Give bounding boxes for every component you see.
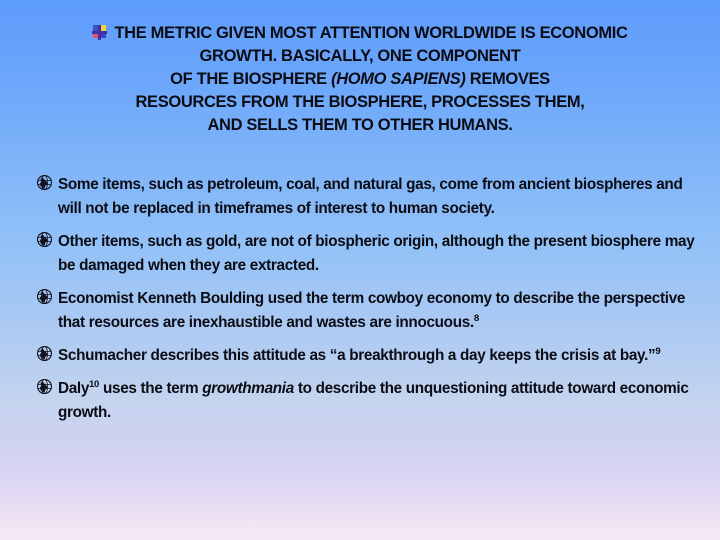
text-run: uses the term <box>99 380 202 397</box>
title-line-2: GROWTH. BASICALLY, ONE COMPONENT <box>0 45 720 68</box>
title-line-1-text: THE METRIC GIVEN MOST ATTENTION WORLDWID… <box>114 24 627 42</box>
title-line-3-italic: (HOMO SAPIENS) <box>331 70 465 88</box>
title-line-4: RESOURCES FROM THE BIOSPHERE, PROCESSES … <box>0 91 720 114</box>
globe-icon <box>36 288 53 310</box>
title-line-5-text: AND SELLS THEM TO OTHER HUMANS. <box>207 116 512 134</box>
bullet-text: Schumacher describes this attitude as “a… <box>58 344 700 368</box>
text-run: Daly <box>58 380 89 397</box>
bullet-text: Economist Kenneth Boulding used the term… <box>58 287 700 335</box>
bullet-item: Some items, such as petroleum, coal, and… <box>36 173 700 221</box>
title-line-2-text: GROWTH. BASICALLY, ONE COMPONENT <box>200 47 521 65</box>
title-line-4-text: RESOURCES FROM THE BIOSPHERE, PROCESSES … <box>135 93 584 111</box>
title-line-3: OF THE BIOSPHERE (HOMO SAPIENS) REMOVES <box>0 68 720 91</box>
text-run: Some items, such as petroleum, coal, and… <box>58 176 682 217</box>
slide-title: THE METRIC GIVEN MOST ATTENTION WORLDWID… <box>0 22 720 137</box>
text-run: Economist Kenneth Boulding used the term… <box>58 290 685 331</box>
globe-icon <box>36 378 53 400</box>
globe-icon <box>36 174 53 196</box>
slide-canvas: THE METRIC GIVEN MOST ATTENTION WORLDWID… <box>0 0 720 540</box>
globe-icon <box>36 345 53 367</box>
bullet-text: Daly10 uses the term growthmania to desc… <box>58 377 700 425</box>
footnote-reference: 8 <box>474 313 479 324</box>
title-line-3-pre: OF THE BIOSPHERE <box>170 70 331 88</box>
bullet-item: Daly10 uses the term growthmania to desc… <box>36 377 700 425</box>
title-line-1: THE METRIC GIVEN MOST ATTENTION WORLDWID… <box>0 22 720 45</box>
footnote-reference: 10 <box>89 379 99 390</box>
emphasized-term: growthmania <box>202 380 294 397</box>
bullet-item: Other items, such as gold, are not of bi… <box>36 230 700 278</box>
globe-icon <box>36 231 53 253</box>
text-run: Other items, such as gold, are not of bi… <box>58 233 694 274</box>
footnote-reference: 9 <box>655 346 660 357</box>
text-run: Schumacher describes this attitude as “a… <box>58 347 655 364</box>
bullet-text: Some items, such as petroleum, coal, and… <box>58 173 700 221</box>
four-pane-color-bullet-icon <box>92 25 107 40</box>
title-line-5: AND SELLS THEM TO OTHER HUMANS. <box>0 114 720 137</box>
bullet-list: Some items, such as petroleum, coal, and… <box>36 173 700 434</box>
bullet-item: Schumacher describes this attitude as “a… <box>36 344 700 368</box>
bullet-item: Economist Kenneth Boulding used the term… <box>36 287 700 335</box>
title-line-3-post: REMOVES <box>466 70 550 88</box>
bullet-text: Other items, such as gold, are not of bi… <box>58 230 700 278</box>
